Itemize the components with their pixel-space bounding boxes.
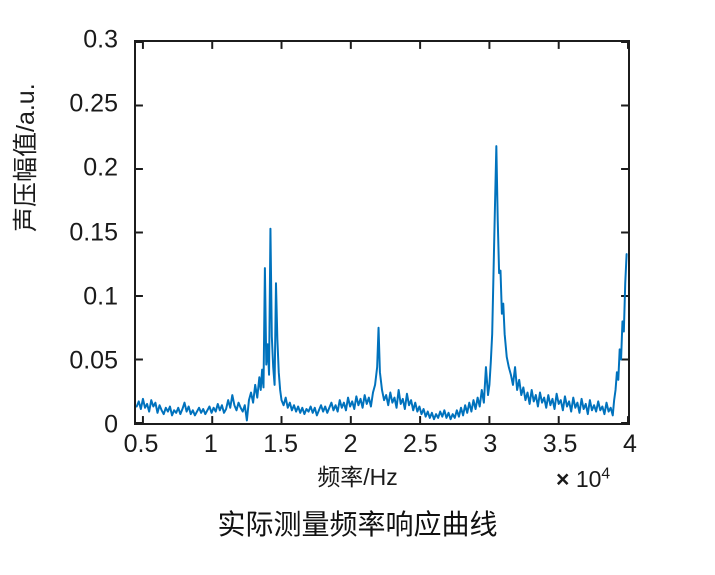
exponent-base: 10: [576, 466, 602, 492]
y-tick-label: 0.1: [83, 284, 118, 309]
y-tick-label: 0.05: [69, 348, 118, 373]
y-tick-label: 0.25: [69, 92, 118, 117]
y-axis-title: 声压幅值/a.u.: [14, 83, 39, 232]
x-tick-label: 3.5: [543, 432, 578, 457]
figure-container: 00.050.10.150.20.250.3 声压幅值/a.u. 0.511.5…: [0, 0, 715, 575]
x-tick-label: 1.5: [263, 432, 298, 457]
x-tick-label: 2.5: [403, 432, 438, 457]
y-tick-label: 0.3: [83, 28, 118, 53]
x-tick-label: 4: [623, 432, 637, 457]
multiply-icon: ×: [556, 466, 569, 492]
x-axis-exponent: × 104: [556, 468, 610, 491]
y-tick-label: 0.2: [83, 156, 118, 181]
figure-caption: 实际测量频率响应曲线: [0, 508, 715, 542]
y-tick-label: 0: [104, 413, 118, 438]
plot-svg: [136, 42, 628, 423]
x-tick-label: 3: [483, 432, 497, 457]
x-tick-label: 1: [204, 432, 218, 457]
y-tick-label: 0.15: [69, 220, 118, 245]
x-axis-tick-labels: 0.511.522.533.54: [134, 432, 630, 466]
x-tick-label: 0.5: [124, 432, 159, 457]
plot-area: [134, 40, 630, 425]
x-tick-label: 2: [344, 432, 358, 457]
data-series-line: [137, 146, 627, 420]
exponent-power: 4: [601, 465, 610, 482]
axis-ticks-group: [136, 42, 628, 423]
